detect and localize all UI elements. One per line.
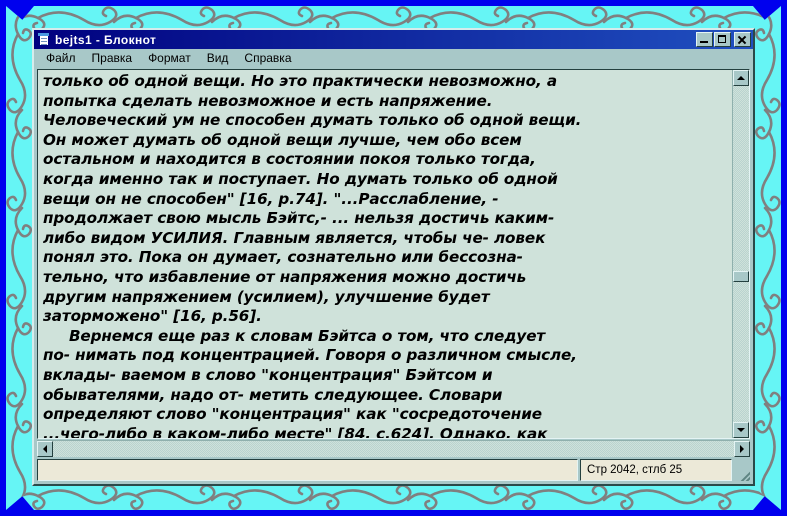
close-button[interactable] [734, 32, 751, 47]
menu-item-edit[interactable]: Правка [84, 50, 141, 67]
menu-item-format[interactable]: Формат [140, 50, 199, 67]
horizontal-scroll-track[interactable] [53, 441, 734, 457]
notepad-icon [37, 33, 51, 47]
resize-grip[interactable] [732, 459, 750, 481]
notepad-window: bejts1 - Блокнот Файл Правка Формат Вид … [32, 28, 755, 486]
menu-item-file[interactable]: Файл [38, 50, 84, 67]
horizontal-scrollbar[interactable] [37, 440, 750, 457]
vertical-scroll-track[interactable] [733, 86, 749, 422]
status-bar: Стр 2042, стлб 25 [37, 459, 750, 481]
status-cursor-position: Стр 2042, стлб 25 [580, 459, 732, 481]
ornament-bottom [12, 484, 775, 510]
vertical-scrollbar[interactable] [732, 70, 749, 438]
edit-row: только об одной вещи. Но это практически… [37, 69, 750, 439]
scroll-left-button[interactable] [37, 441, 53, 457]
menu-item-help[interactable]: Справка [236, 50, 299, 67]
document-text: только об одной вещи. Но это практически… [43, 72, 728, 438]
ornament-right [755, 6, 781, 510]
menu-bar: Файл Правка Формат Вид Справка [34, 49, 753, 68]
client-area: только об одной вещи. Но это практически… [37, 69, 750, 457]
text-editor[interactable]: только об одной вещи. Но это практически… [38, 70, 732, 438]
scroll-up-button[interactable] [733, 70, 749, 86]
scroll-down-button[interactable] [733, 422, 749, 438]
maximize-button[interactable] [714, 32, 731, 47]
ornament-left [6, 6, 32, 510]
window-title: bejts1 - Блокнот [55, 33, 695, 47]
status-message [37, 459, 578, 481]
minimize-button[interactable] [696, 32, 713, 47]
vertical-scroll-thumb[interactable] [733, 271, 749, 282]
title-bar[interactable]: bejts1 - Блокнот [34, 30, 753, 49]
scroll-right-button[interactable] [734, 441, 750, 457]
menu-item-view[interactable]: Вид [199, 50, 237, 67]
